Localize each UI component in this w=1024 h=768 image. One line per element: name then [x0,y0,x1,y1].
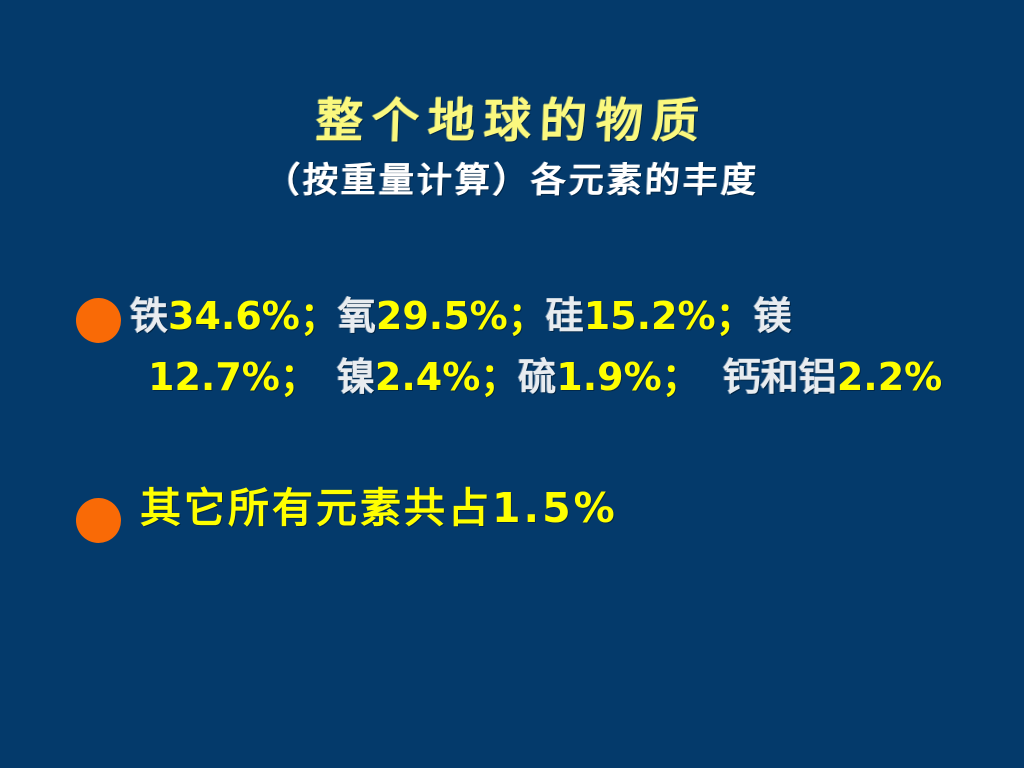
text-line: 12.7%； 镍2.4%；硫1.9%； [130,355,700,399]
list-item-text: 其它所有元素共占1.5% [0,478,1024,539]
bullet-list: 铁34.6%；氧29.5%；硅15.2%；镁 12.7%； 镍2.4%；硫1.9… [0,286,1024,539]
text-segment: 镍 [337,355,375,399]
text-segment: 镁 [754,294,792,338]
list-item: 其它所有元素共占1.5% [0,478,1024,539]
bullet-disc-icon [76,298,121,343]
text-segment: 其它所有元素共占1.5% [140,484,618,532]
text-segment: 钙和铝 [723,355,837,399]
title-block: 整个地球的物质 （按重量计算）各元素的丰度 [0,96,1024,201]
page-subtitle: （按重量计算）各元素的丰度 [0,161,1024,201]
text-segment: 34.6%； [168,294,338,338]
text-segment: 铁 [130,294,168,338]
text-line: 其它所有元素共占1.5% [140,484,618,532]
text-segment [299,355,337,399]
text-segment: 2.2% [837,355,942,399]
slide-canvas: 整个地球的物质 （按重量计算）各元素的丰度 铁34.6%；氧29.5%；硅15.… [0,0,1024,768]
text-segment: 2.4%； [375,355,518,399]
text-line: 钙和铝2.2% [705,355,942,399]
page-title: 整个地球的物质 [0,96,1024,149]
list-item-text: 铁34.6%；氧29.5%；硅15.2%；镁 12.7%； 镍2.4%；硫1.9… [0,286,1024,408]
list-item: 铁34.6%；氧29.5%；硅15.2%；镁 12.7%； 镍2.4%；硫1.9… [0,286,1024,408]
bullet-disc-icon [76,498,121,543]
text-segment: 29.5%； [376,294,546,338]
text-segment: 硅 [546,294,584,338]
text-segment: 氧 [338,294,376,338]
text-segment: 硫 [518,355,556,399]
text-line: 铁34.6%；氧29.5%；硅15.2%；镁 [130,294,792,338]
text-segment: 1.9%； [556,355,699,399]
text-segment: 15.2%； [584,294,754,338]
text-segment: 12.7%； [148,355,299,399]
